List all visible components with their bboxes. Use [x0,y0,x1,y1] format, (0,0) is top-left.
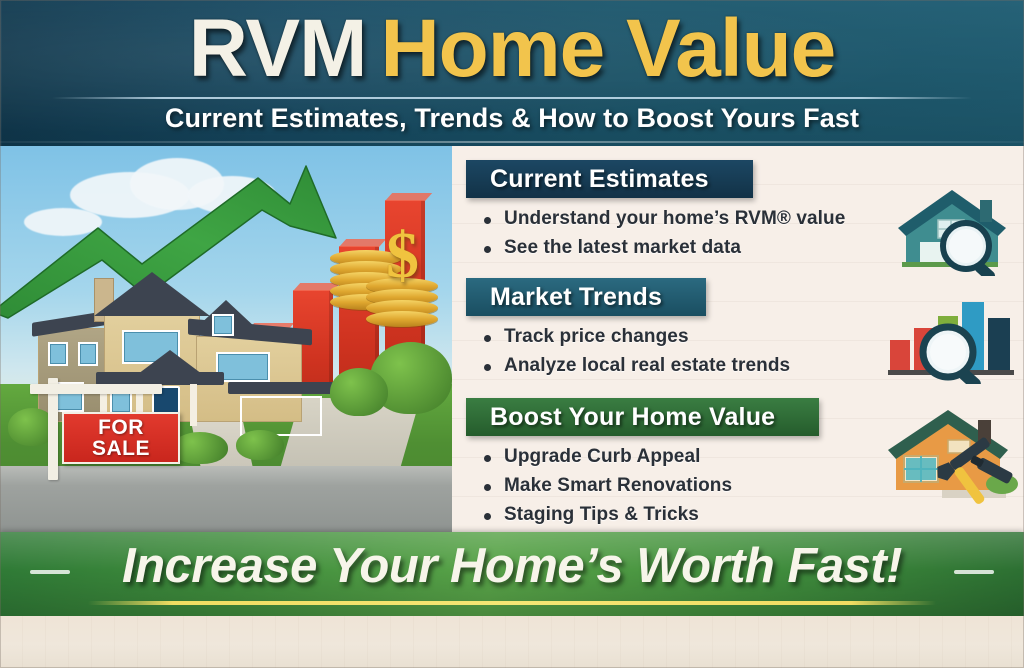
list-item: Staging Tips & Tricks [482,504,1024,526]
bullet-dot [484,246,491,253]
bush [172,432,228,464]
house-magnifier-icon [894,180,1016,276]
footer-underline-accent [88,601,936,605]
bullet-dot [484,335,491,342]
header-bottom-divider [0,141,1024,143]
section-heading-current-estimates: Current Estimates [466,160,753,198]
bullet-dot [484,513,491,520]
page-subtitle: Current Estimates, Trends & How to Boost… [0,103,1024,134]
porch-column [190,384,197,426]
house-market-illustration: $ [0,146,452,532]
dormer-window [212,314,234,336]
section-heading-market-trends: Market Trends [466,278,706,316]
section-current-estimates: Current Estimates Understand your home’s… [452,160,1024,266]
dollar-symbol: $ [386,218,419,294]
list-item-label: Analyze local real estate trends [504,355,790,376]
bullet-dot [484,455,491,462]
footer-callout-banner: Increase Your Home’s Worth Fast! [0,532,1024,616]
section-market-trends: Market Trends Track price changes Analyz… [452,278,1024,384]
list-item-label: Staging Tips & Tricks [504,504,699,525]
window [78,342,98,366]
coin [366,311,438,327]
bush [330,368,388,416]
bush [236,430,284,460]
list-item-label: Track price changes [504,326,689,347]
house-hammer-icon [882,404,1018,504]
for-sale-sign: FOR SALE [62,412,180,464]
bullet-dot [484,364,491,371]
bar-chart-magnifier-icon [888,288,1016,384]
section-heading-boost-home-value: Boost Your Home Value [466,398,819,436]
garage-roof [228,382,338,394]
title-main: RVM [189,3,367,94]
window [216,352,270,382]
bullet-dot [484,484,491,491]
for-sale-line-2: SALE [92,438,150,459]
title-accent: Home Value [380,3,835,94]
section-boost-home-value: Boost Your Home Value Upgrade Curb Appea… [452,398,1024,532]
roof-gable-center [94,272,210,316]
base-strip [0,616,1024,668]
for-sale-line-1: FOR [98,417,144,438]
header-banner: RVMHome Value Current Estimates, Trends … [0,0,1024,146]
entry-gable [138,350,202,374]
content-area: $ [0,146,1024,532]
infographic-poster: RVMHome Value Current Estimates, Trends … [0,0,1024,668]
bullet-dot [484,217,491,224]
title-divider [52,97,972,99]
page-title: RVMHome Value [0,8,1024,90]
footer-callout-text: Increase Your Home’s Worth Fast! [0,538,1024,594]
list-item-label: Upgrade Curb Appeal [504,446,701,467]
sign-crossbar [30,384,162,394]
list-item-label: Make Smart Renovations [504,475,732,496]
base-texture [0,616,1024,668]
window [48,342,68,366]
street [0,466,452,532]
list-item-label: See the latest market data [504,237,741,258]
sections-column: Current Estimates Understand your home’s… [452,146,1024,532]
list-item-label: Understand your home’s RVM® value [504,208,845,229]
